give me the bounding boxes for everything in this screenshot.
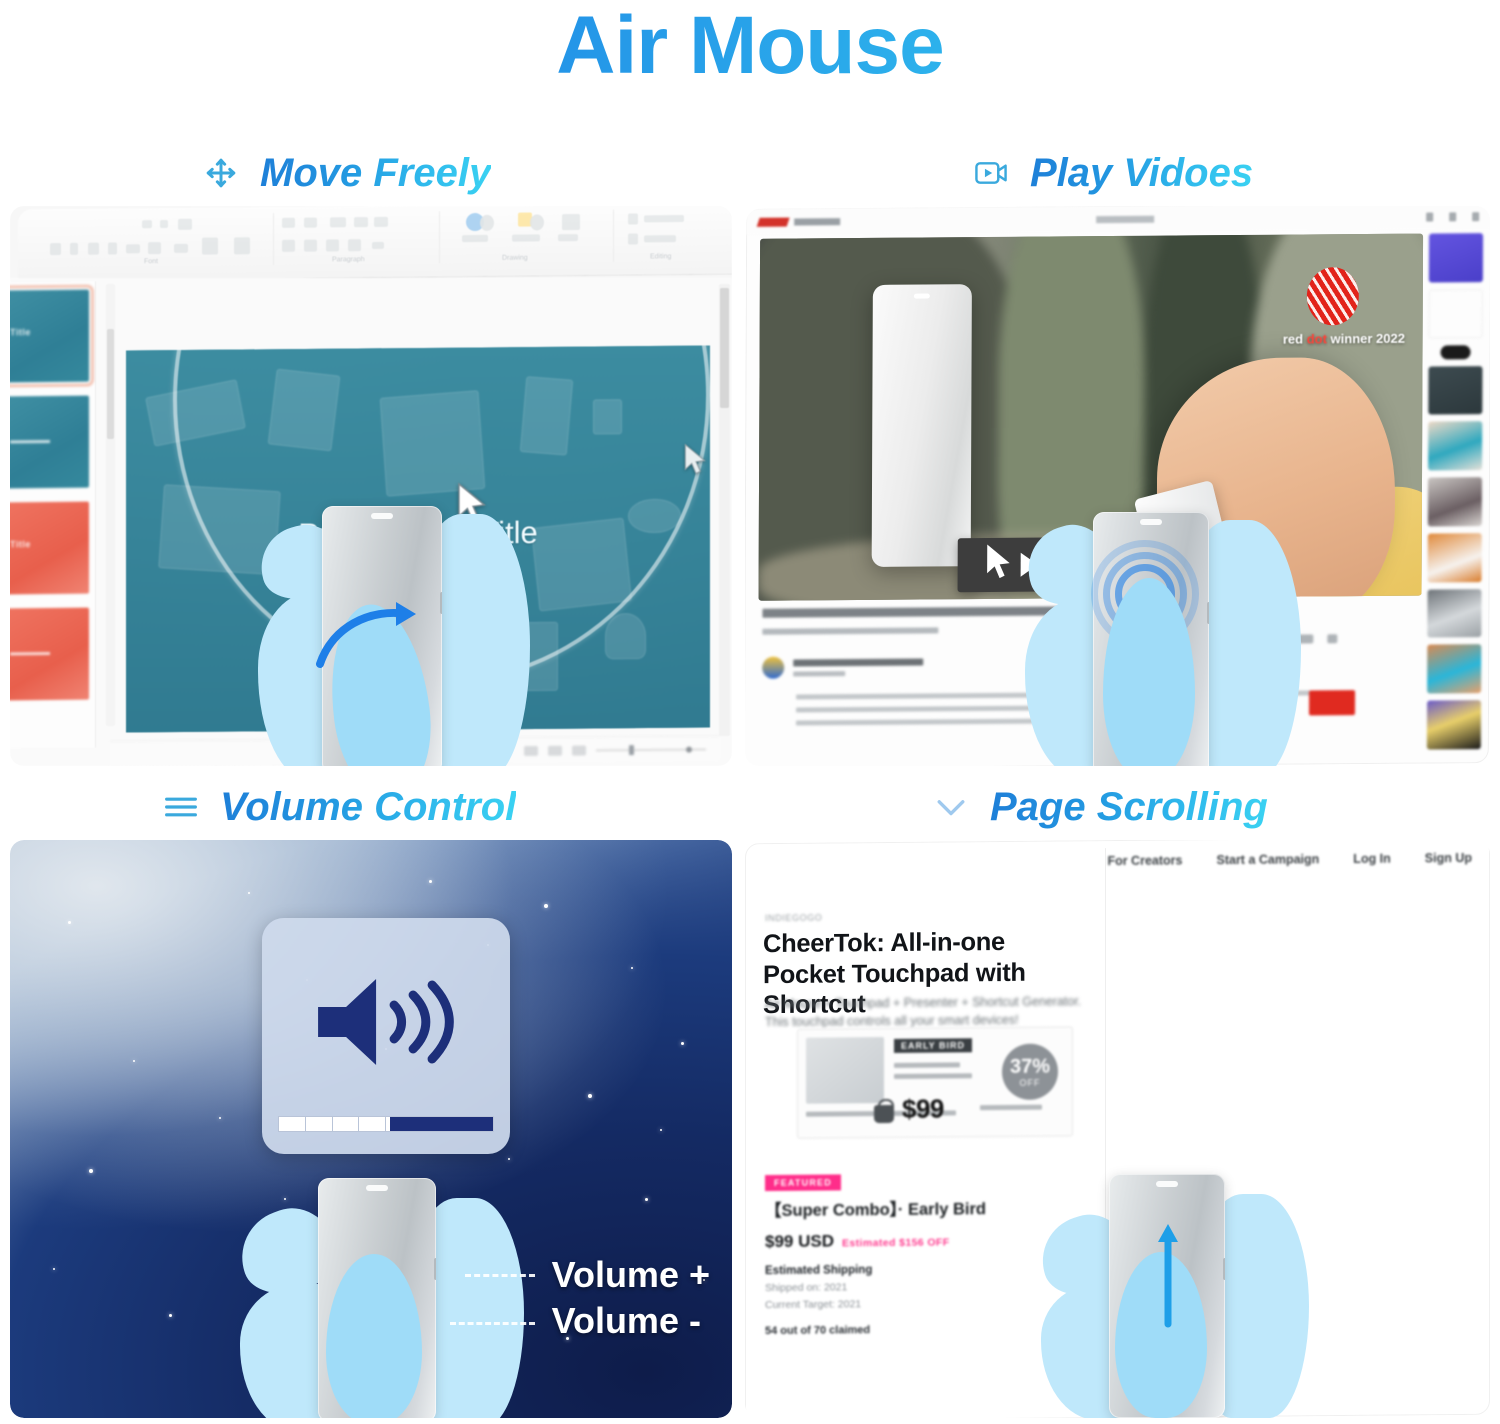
hamburger-lines-icon	[160, 786, 202, 828]
feature-heading-volume-control: Volume Control	[10, 774, 732, 840]
video-badge-pill	[1441, 345, 1471, 359]
red-dot-award-text: red dot winner 2022	[1283, 330, 1383, 346]
more-button[interactable]	[1327, 634, 1337, 643]
feature-label-volume-control: Volume Control	[220, 785, 516, 830]
slide-thumbnail-label: Title	[10, 539, 31, 549]
campaign-subtitle: Air Mouse + Touchpad + Presenter + Short…	[765, 992, 1095, 1031]
thumbnail-scrollbar[interactable]	[106, 284, 115, 726]
browser-logo-icon	[757, 217, 790, 226]
feature-heading-move-freely: Move Freely	[10, 140, 732, 206]
volume-down-label: Volume -	[552, 1298, 710, 1344]
slide-scrollbar[interactable]	[719, 284, 730, 736]
nav-for-creators[interactable]: For Creators	[1107, 853, 1182, 868]
discount-badge: 37% OFF	[1002, 1044, 1058, 1100]
feature-heading-play-videos: Play Vidoes	[745, 140, 1490, 206]
red-dot-logo-icon	[1307, 267, 1359, 325]
browser-menu-icon[interactable]	[1472, 212, 1479, 221]
video-thumbnail[interactable]	[1427, 645, 1481, 694]
video-thumbnail[interactable]	[1428, 366, 1482, 415]
shipping-heading: Estimated Shipping	[765, 1263, 1065, 1278]
shipping-line-2: Current Target: 2021	[765, 1297, 1065, 1312]
ribbon-group-font[interactable]: Font	[44, 213, 274, 267]
view-normal-button[interactable]	[524, 745, 538, 755]
ribbon-group-paragraph[interactable]: Paragraph	[276, 211, 440, 265]
scroll-gesture-arrow-icon	[1153, 1218, 1183, 1338]
video-screenshot: red dot winner 2022	[745, 206, 1490, 766]
shipping-line-1: Shipped on: 2021	[765, 1280, 1065, 1295]
video-thumbnail[interactable]	[1428, 477, 1482, 526]
video-camera-icon	[970, 152, 1012, 194]
feature-card-play-videos: Play Vidoes	[745, 140, 1490, 774]
galaxy-background: Volume + Volume -	[10, 840, 732, 1418]
slide-thumbnail[interactable]	[10, 396, 89, 489]
ribbon-group-label-font: Font	[144, 258, 158, 265]
nav-log-in[interactable]: Log In	[1353, 852, 1391, 866]
zoom-slider[interactable]	[596, 748, 706, 751]
ribbon-group-label-paragraph: Paragraph	[332, 256, 365, 263]
reward-tier[interactable]: FEATURED 【Super Combo】· Early Bird $99 U…	[765, 1170, 1065, 1337]
product-offer-card[interactable]: EARLY BIRD $99 37% OFF	[797, 1026, 1073, 1138]
volume-up-label: Volume +	[552, 1252, 710, 1298]
video-thumbnail[interactable]	[1428, 533, 1482, 582]
ribbon-group-editing[interactable]: Editing	[618, 209, 732, 262]
site-nav[interactable]: For Creators Start a Campaign Log In Sig…	[1107, 851, 1472, 868]
page-eyebrow: INDIEGOGO	[765, 913, 822, 924]
hand-holding-device	[246, 1170, 514, 1418]
reward-price: $99 USD	[765, 1232, 834, 1252]
discount-off-label: OFF	[1020, 1077, 1041, 1087]
product-thumbnail	[806, 1037, 884, 1104]
video-thumbnail[interactable]	[1427, 589, 1481, 638]
volume-level-fill	[390, 1117, 493, 1131]
feature-card-page-scrolling: Page Scrolling For Creators Start a Camp…	[745, 774, 1490, 1424]
feature-label-play-videos: Play Vidoes	[1030, 151, 1253, 196]
cursor-arrow-icon	[985, 543, 1015, 586]
video-thumbnail[interactable]	[1429, 289, 1483, 338]
slide-thumbnail[interactable]: Title	[10, 290, 89, 383]
slide-thumbnail[interactable]	[10, 608, 89, 701]
shopping-bag-icon	[874, 1105, 894, 1123]
address-bar[interactable]	[1096, 215, 1154, 222]
reward-discount-note: Estimated $156 OFF	[842, 1237, 950, 1250]
early-bird-tag: EARLY BIRD	[894, 1038, 972, 1053]
reward-price-row: $99 USDEstimated $156 OFF	[765, 1230, 1065, 1253]
nav-sign-up[interactable]: Sign Up	[1425, 851, 1472, 865]
speaker-waves-icon	[310, 969, 456, 1075]
nav-start-campaign[interactable]: Start a Campaign	[1216, 852, 1319, 867]
feature-label-page-scrolling: Page Scrolling	[990, 785, 1268, 830]
move-arrows-icon	[200, 152, 242, 194]
browser-action-icon[interactable]	[1449, 212, 1456, 221]
volume-level-bar[interactable]	[278, 1116, 494, 1132]
feature-card-volume-control: Volume Control	[10, 774, 732, 1424]
feature-label-move-freely: Move Freely	[260, 151, 491, 196]
reward-title: 【Super Combo】· Early Bird	[765, 1198, 1065, 1222]
slide-thumbnail[interactable]: Title	[10, 502, 89, 595]
video-thumbnail-rail[interactable]	[1427, 233, 1483, 749]
hand-holding-device	[1045, 1160, 1295, 1418]
chevron-down-icon	[930, 786, 972, 828]
card-price: $99	[902, 1094, 944, 1125]
feature-card-move-freely: Move Freely	[10, 140, 732, 774]
channel-avatar	[762, 657, 784, 679]
video-thumbnail[interactable]	[1427, 700, 1481, 749]
video-views-placeholder	[762, 627, 938, 634]
browser-action-icon[interactable]	[1426, 212, 1433, 221]
volume-screenshot: Volume + Volume -	[10, 840, 732, 1418]
slide-thumbnail-label: Title	[10, 327, 31, 337]
powerpoint-ribbon[interactable]: Font	[18, 206, 732, 281]
hand-holding-device	[1035, 506, 1285, 766]
slide-thumbnail-panel[interactable]: Title Title	[10, 282, 96, 749]
subscribe-button[interactable]	[1309, 690, 1355, 715]
featured-badge: FEATURED	[765, 1174, 841, 1191]
ribbon-group-label-drawing: Drawing	[502, 255, 528, 262]
device-in-video	[871, 284, 972, 567]
video-thumbnail[interactable]	[1429, 233, 1483, 282]
view-sorter-button[interactable]	[548, 745, 562, 755]
leader-line-volume-down	[450, 1322, 535, 1325]
volume-osd-panel	[262, 918, 510, 1154]
powerpoint-screenshot: Font	[10, 206, 732, 766]
discount-percent: 37%	[1010, 1056, 1050, 1076]
hand-holding-device	[260, 496, 520, 766]
kickstarter-screenshot: For Creators Start a Campaign Log In Sig…	[745, 840, 1490, 1418]
red-dot-award-badge: red dot winner 2022	[1283, 266, 1383, 346]
reward-claimed-count: 54 out of 70 claimed	[765, 1323, 1065, 1338]
leader-line-volume-up	[465, 1274, 535, 1277]
view-reading-button[interactable]	[572, 745, 586, 755]
feature-heading-page-scrolling: Page Scrolling	[745, 774, 1490, 840]
feature-grid: Move Freely	[0, 140, 1500, 1424]
cursor-arrow-icon	[683, 443, 709, 476]
browser-topbar[interactable]	[746, 206, 1490, 235]
ribbon-group-label-editing: Editing	[650, 253, 671, 260]
ribbon-group-drawing[interactable]: Drawing	[444, 210, 614, 264]
video-thumbnail[interactable]	[1428, 422, 1482, 471]
volume-labels: Volume + Volume -	[552, 1252, 710, 1344]
page-title: Air Mouse	[0, 0, 1500, 91]
swipe-gesture-arrow-icon	[312, 592, 432, 670]
